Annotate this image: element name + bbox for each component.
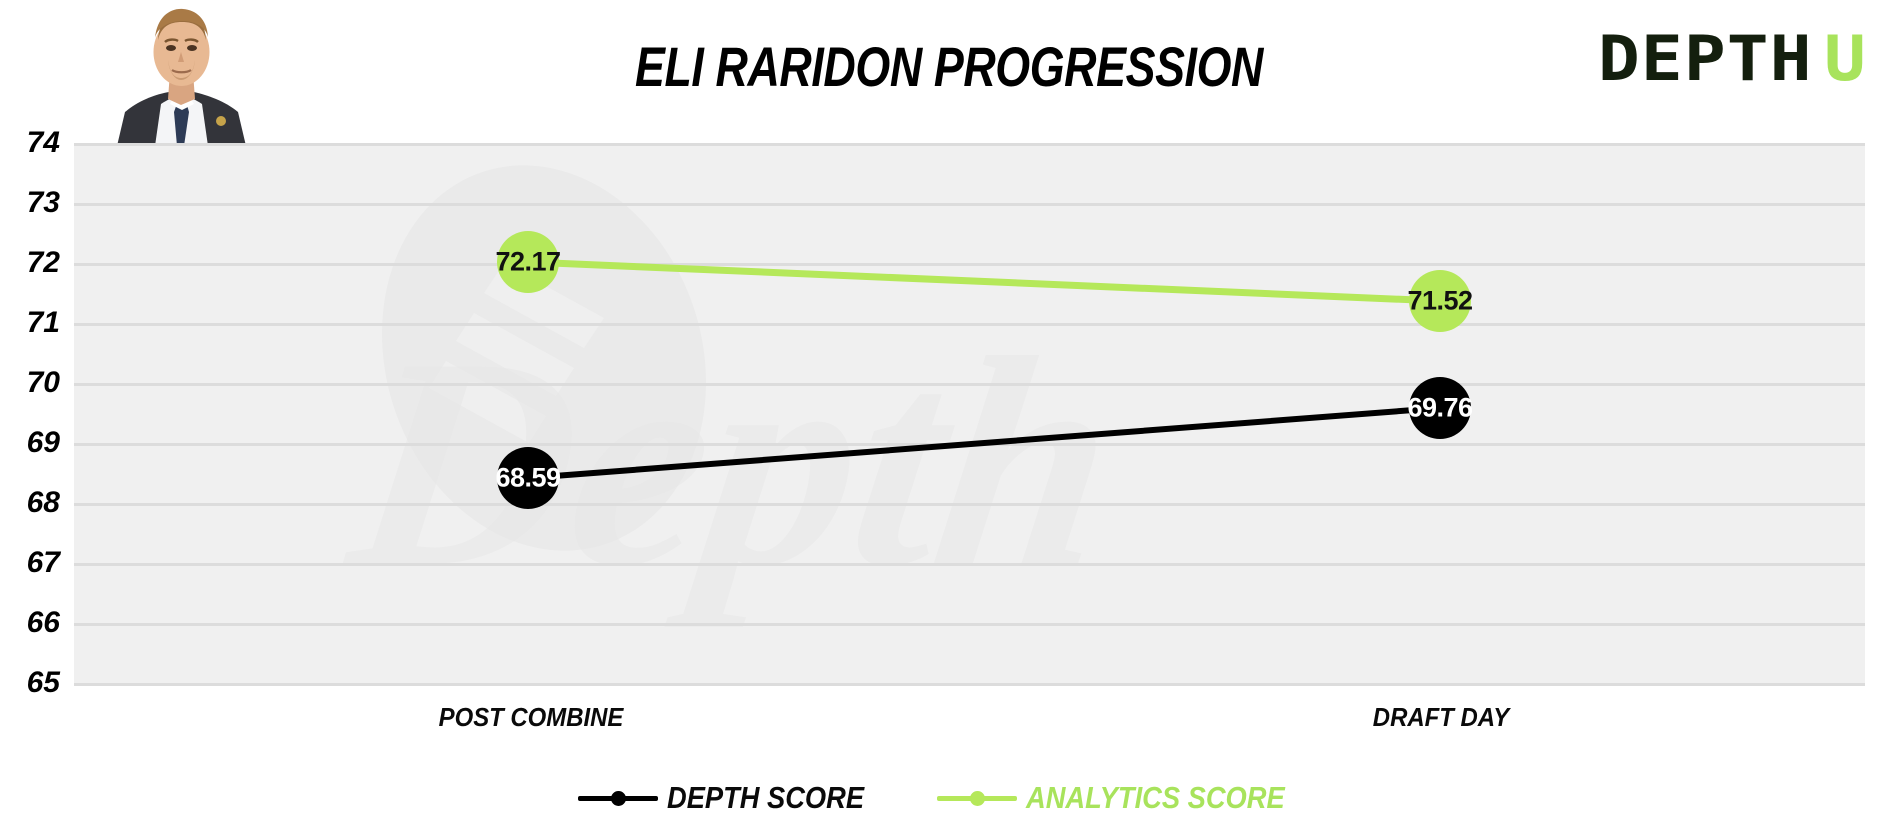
y-tick-label: 72 bbox=[0, 248, 60, 278]
legend: DEPTH SCORE ANALYTICS SCORE bbox=[0, 782, 1898, 813]
legend-key-analytics-score bbox=[937, 788, 1017, 808]
analytics-score-value: 72.17 bbox=[495, 249, 560, 276]
brand-logo-main: DEPTH bbox=[1598, 28, 1813, 90]
legend-label-depth-score: DEPTH SCORE bbox=[667, 782, 864, 813]
legend-label-analytics-score: ANALYTICS SCORE bbox=[1026, 782, 1285, 813]
brand-logo-accent: U bbox=[1824, 28, 1867, 90]
gridline bbox=[74, 443, 1865, 446]
chart-canvas: ELI RARIDON PROGRESSION DEPTH U bbox=[0, 0, 1898, 840]
gridline bbox=[74, 203, 1865, 206]
svg-text:Depth: Depth bbox=[331, 296, 1132, 628]
gridline bbox=[74, 683, 1865, 686]
y-tick-label: 74 bbox=[0, 128, 60, 158]
depth-score-value: 68.59 bbox=[495, 465, 560, 492]
y-tick-label: 67 bbox=[0, 548, 60, 578]
gridline bbox=[74, 623, 1865, 626]
y-tick-label: 69 bbox=[0, 428, 60, 458]
legend-key-depth-score bbox=[578, 788, 658, 808]
x-tick-label-post-combine: POST COMBINE bbox=[439, 702, 624, 733]
y-tick-label: 65 bbox=[0, 668, 60, 698]
page-title: ELI RARIDON PROGRESSION bbox=[190, 38, 1708, 97]
y-axis: 74 73 72 71 70 69 68 67 66 65 bbox=[0, 143, 60, 686]
gridline bbox=[74, 263, 1865, 266]
y-tick-label: 66 bbox=[0, 608, 60, 638]
gridline bbox=[74, 503, 1865, 506]
brand-logo[interactable]: DEPTH U bbox=[1598, 24, 1862, 94]
plot-area: Depth bbox=[74, 143, 1865, 686]
analytics-score-value: 71.52 bbox=[1407, 288, 1472, 315]
y-tick-label: 70 bbox=[0, 368, 60, 398]
y-tick-label: 73 bbox=[0, 188, 60, 218]
watermark: Depth bbox=[74, 143, 1865, 686]
gridline bbox=[74, 383, 1865, 386]
y-tick-label: 68 bbox=[0, 488, 60, 518]
x-tick-label-draft-day: DRAFT DAY bbox=[1373, 702, 1509, 733]
gridline bbox=[74, 563, 1865, 566]
legend-item-analytics-score[interactable]: ANALYTICS SCORE bbox=[937, 782, 1320, 813]
legend-item-depth-score[interactable]: DEPTH SCORE bbox=[578, 782, 891, 813]
depth-score-value: 69.76 bbox=[1407, 395, 1472, 422]
gridline bbox=[74, 323, 1865, 326]
y-tick-label: 71 bbox=[0, 308, 60, 338]
gridline bbox=[74, 143, 1865, 146]
